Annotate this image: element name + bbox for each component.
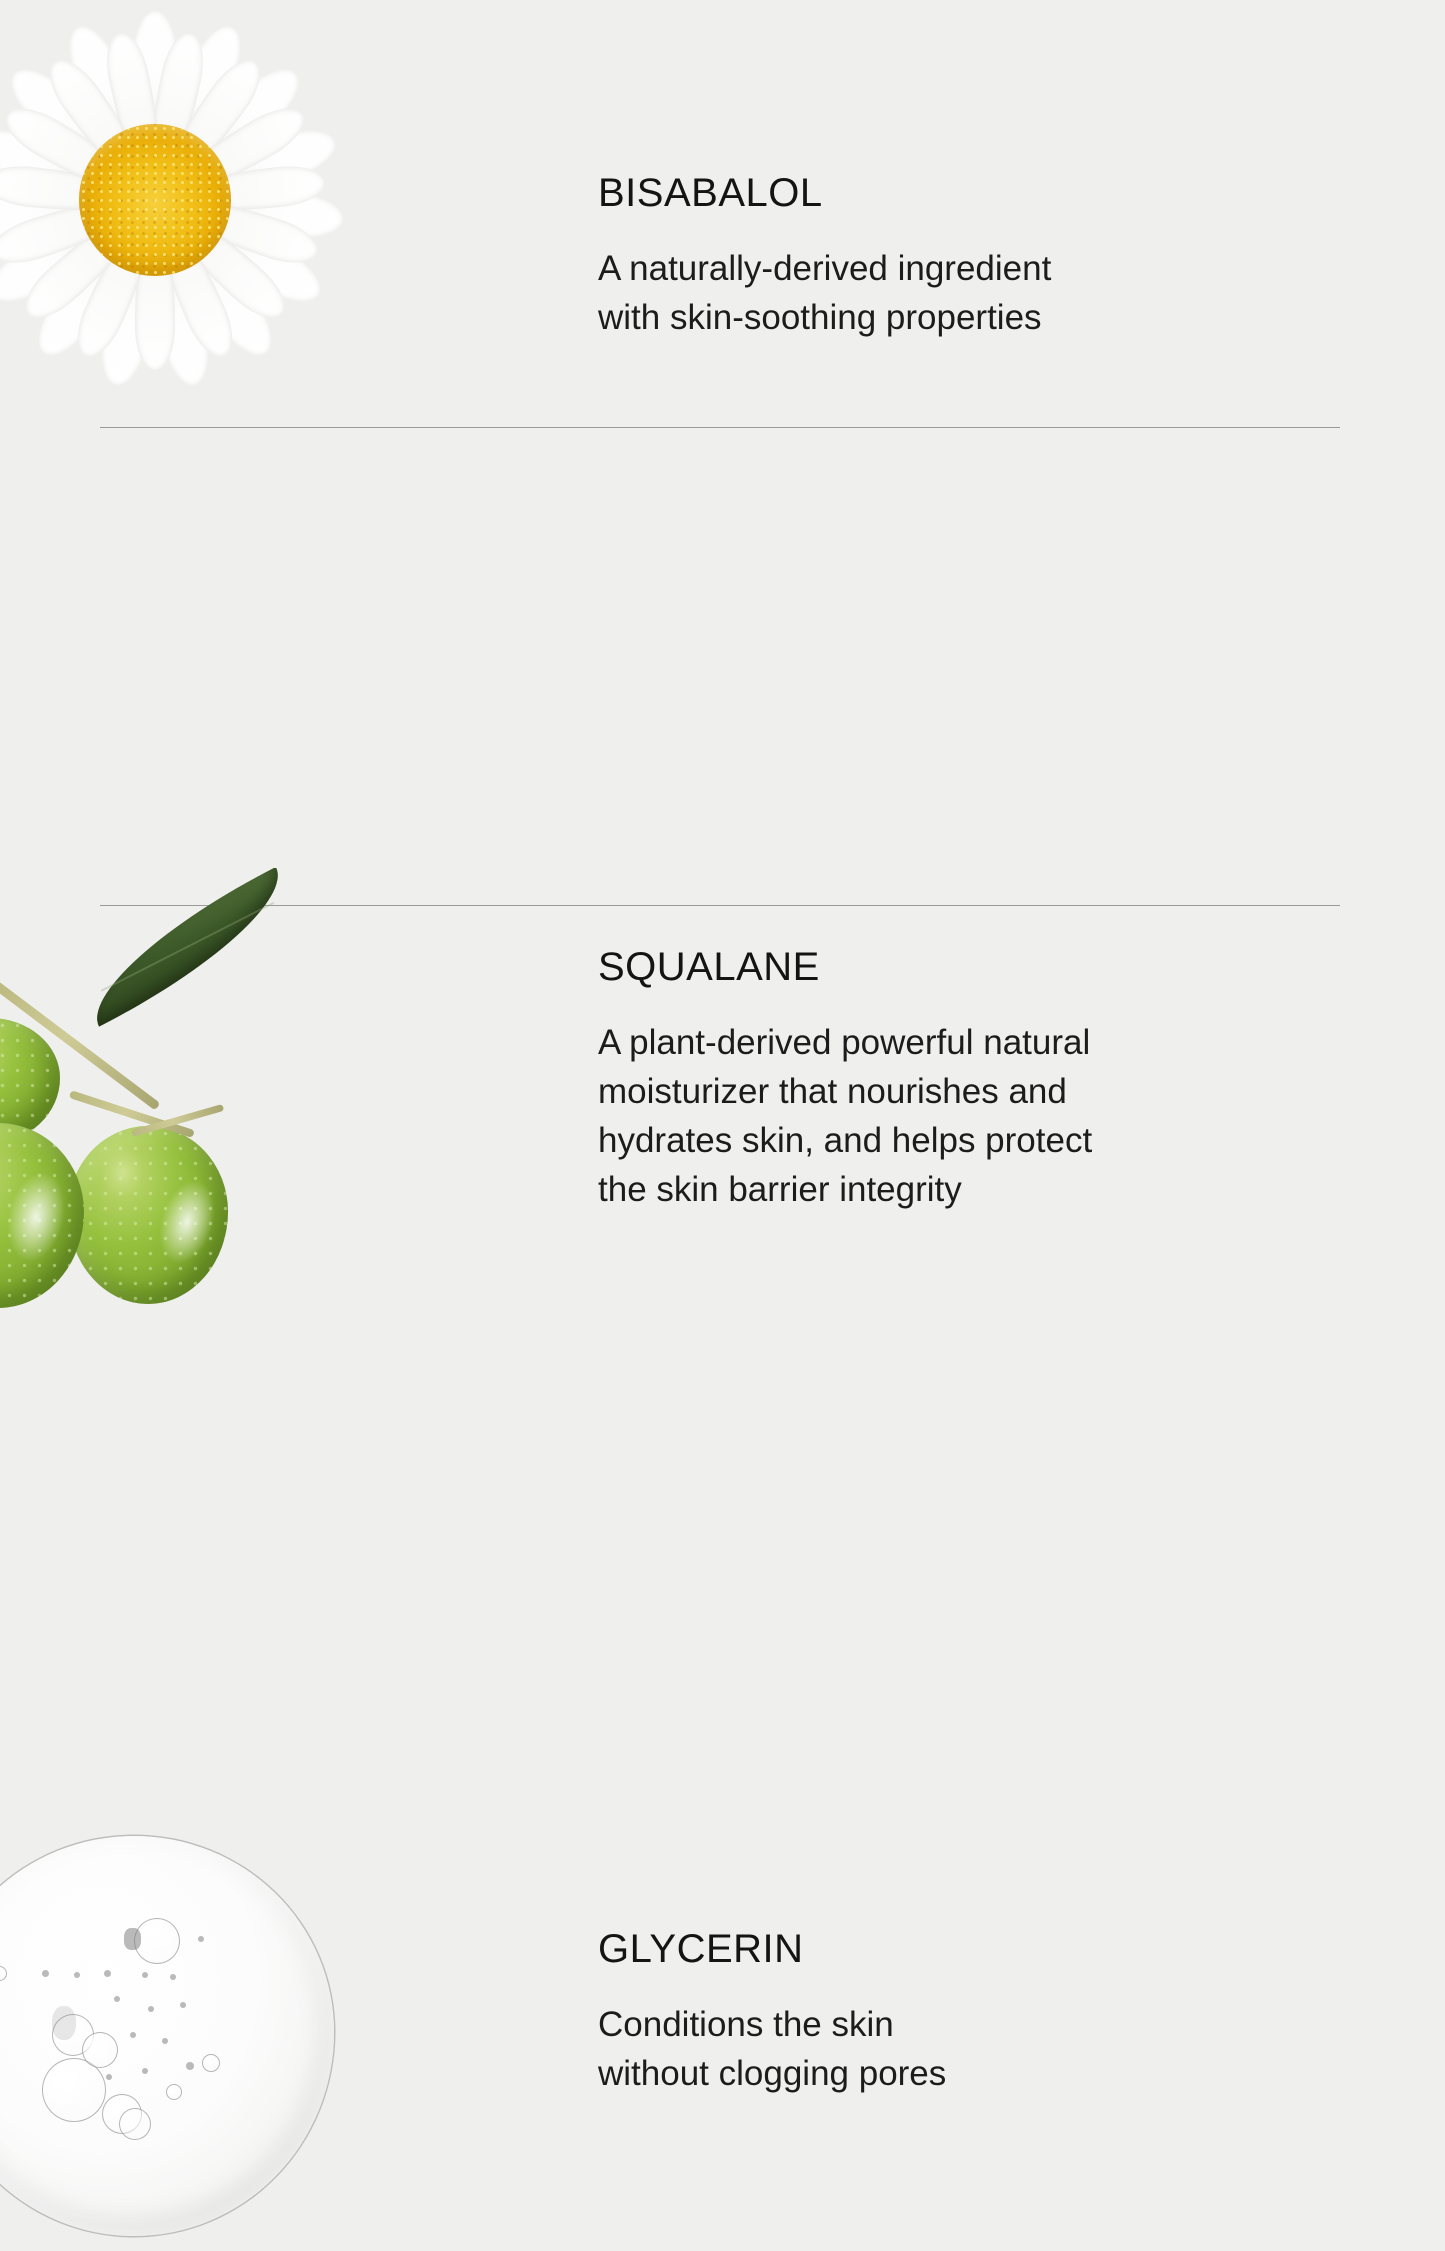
- olive-fruit: [68, 1126, 228, 1304]
- text-block-bisabalol: BISABALOL A naturally-derived ingredient…: [598, 172, 1238, 342]
- gel-blob: [0, 1836, 334, 2236]
- gel-droplet-image: [0, 1826, 354, 2251]
- ingredient-name-glycerin: GLYCERIN: [598, 1928, 1238, 1970]
- ingredient-section-squalane: SQUALANE A plant-derived powerful natura…: [0, 428, 1445, 906]
- ingredient-section-bisabalol: BISABALOL A naturally-derived ingredient…: [0, 0, 1445, 428]
- ingredient-section-glycerin: GLYCERIN Conditions the skin without clo…: [0, 906, 1445, 1345]
- daisy-flower-image: [0, 0, 380, 410]
- ingredient-name-bisabalol: BISABALOL: [598, 172, 1238, 214]
- ingredient-description-glycerin: Conditions the skin without clogging por…: [598, 2000, 1238, 2098]
- daisy-center: [79, 124, 231, 276]
- ingredient-benefits-infographic: BISABALOL A naturally-derived ingredient…: [0, 0, 1445, 1345]
- text-block-glycerin: GLYCERIN Conditions the skin without clo…: [598, 1928, 1238, 2098]
- ingredient-description-bisabalol: A naturally-derived ingredient with skin…: [598, 244, 1238, 342]
